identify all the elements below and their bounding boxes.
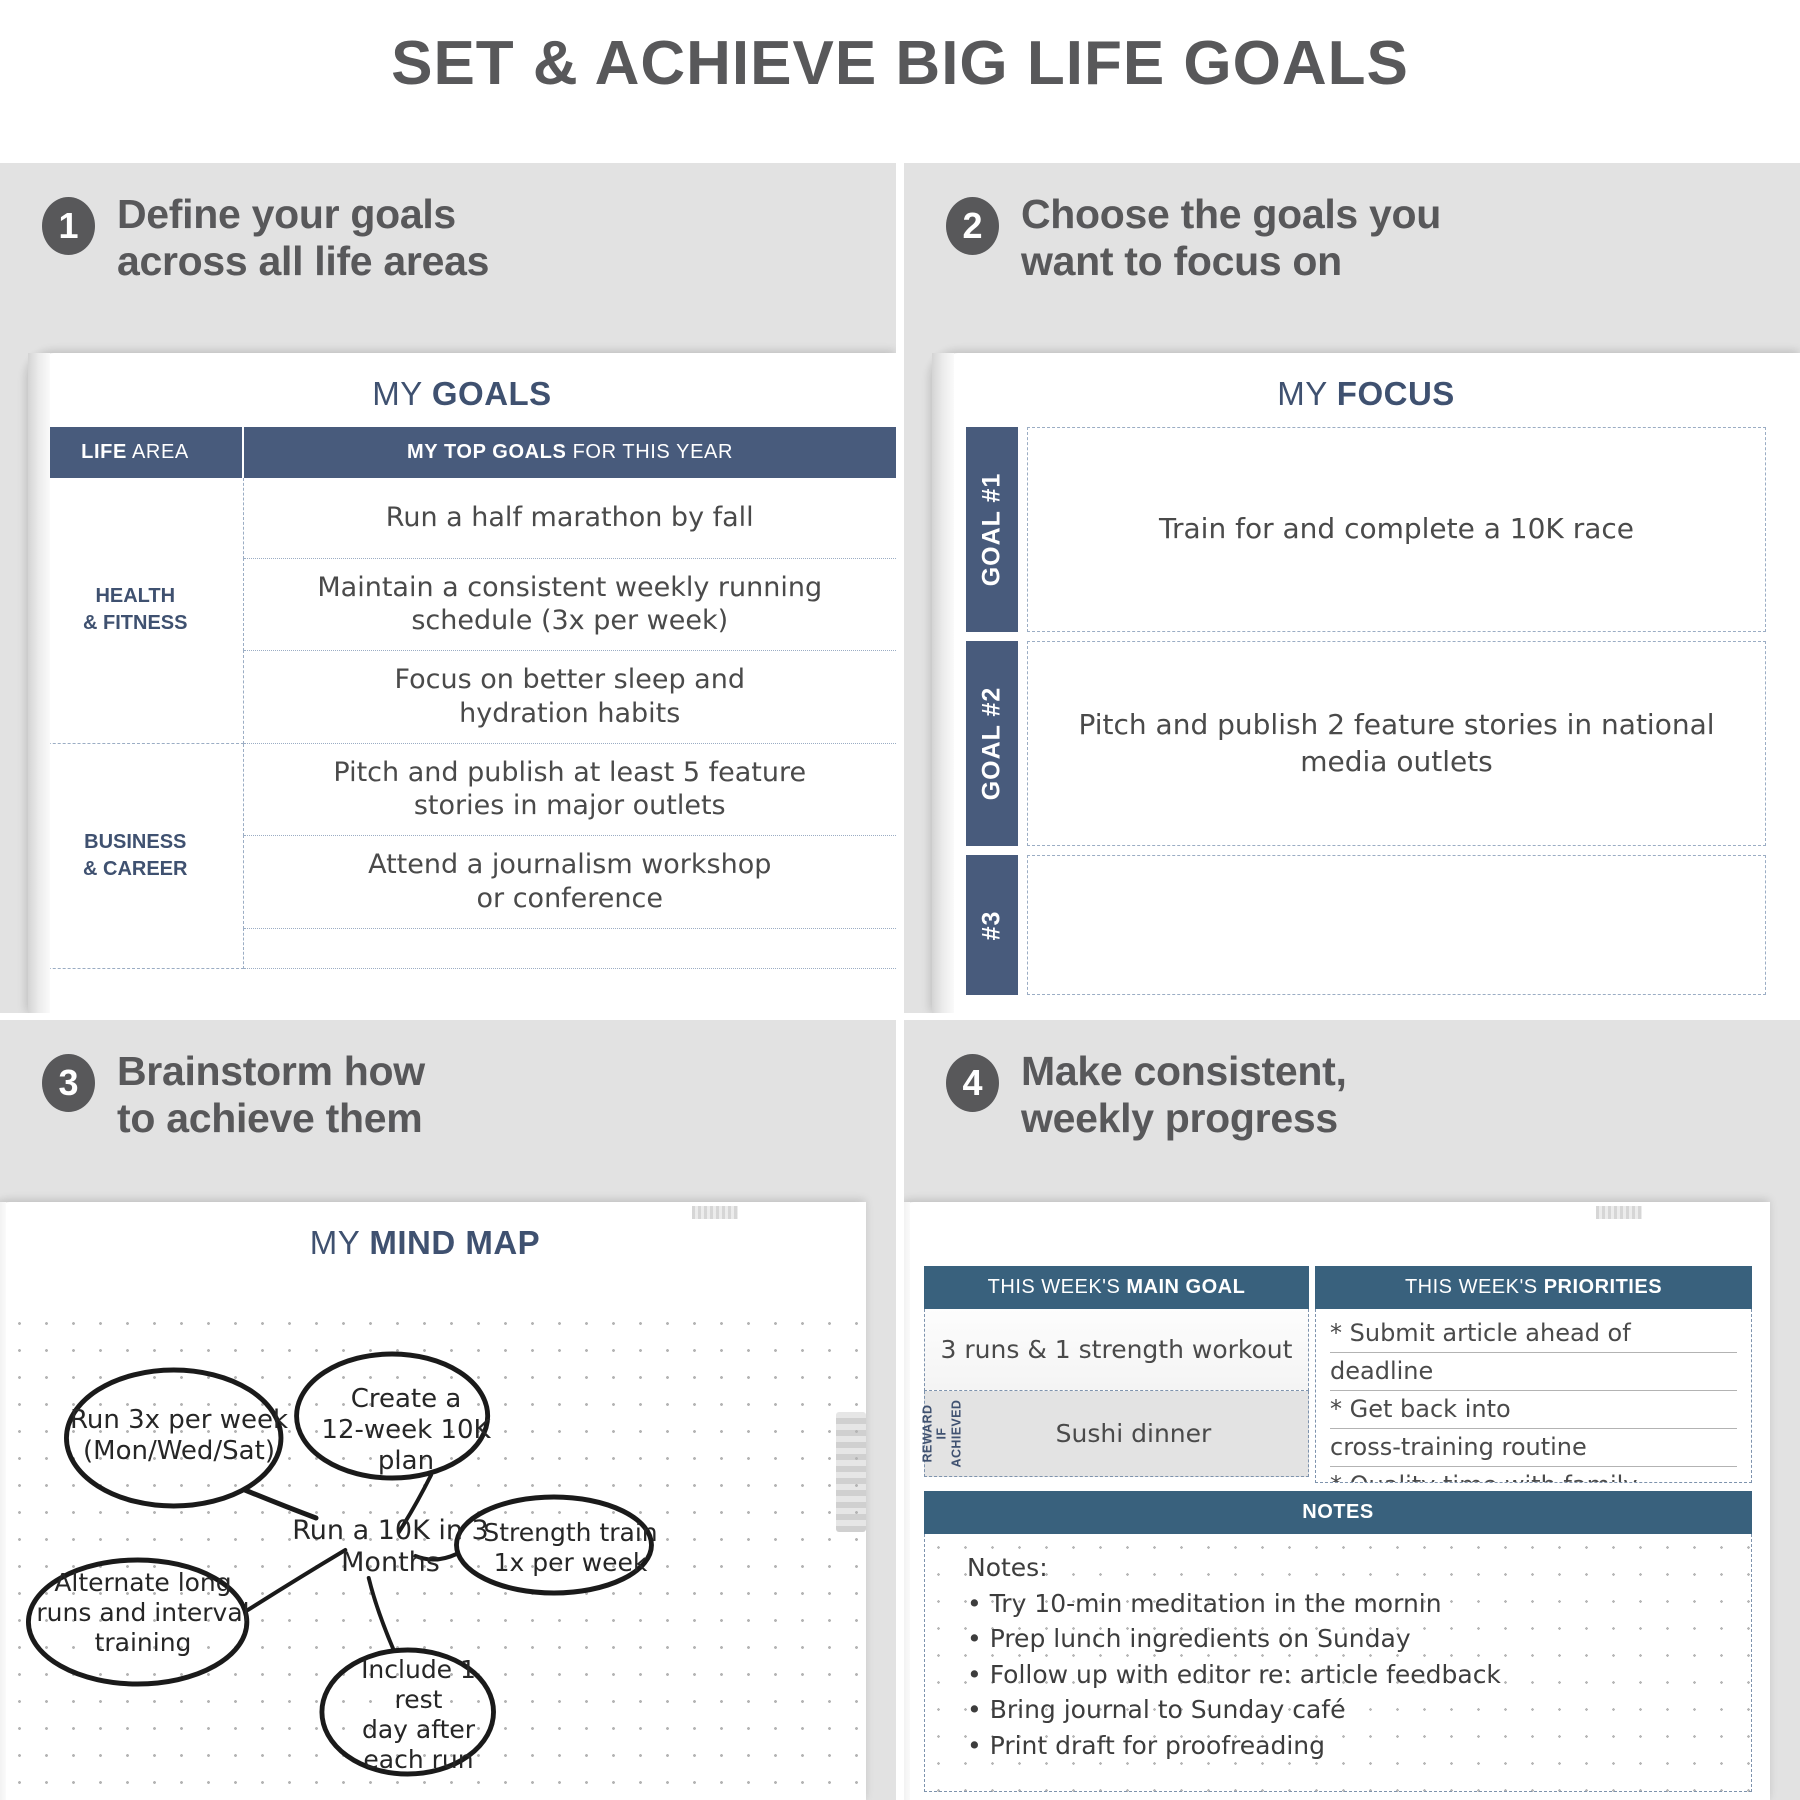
weekly-planner: THIS WEEK'S MAIN GOAL 3 runs & 1 strengt…: [924, 1266, 1752, 1800]
priorities-list: * Submit article ahead of deadline * Get…: [1315, 1309, 1752, 1483]
priority-line[interactable]: * Quality time with family: [1330, 1467, 1737, 1483]
goals-sheet: MY GOALS LIFE AREA MY TOP GOALS FOR THIS…: [28, 353, 896, 1013]
step-2-heading: 2 Choose the goals you want to focus on: [946, 191, 1441, 285]
focus-title-bold: FOCUS: [1337, 375, 1455, 412]
step-4-badge: 4: [946, 1054, 999, 1112]
goals-sheet-title: MY GOALS: [28, 353, 896, 413]
goal-cell[interactable]: Attend a journalism workshop or conferen…: [243, 836, 896, 929]
mindmap-bubble-alternate-runs[interactable]: Alternate long runs and interval trainin…: [30, 1568, 256, 1658]
focus-title-light: MY: [1277, 375, 1337, 412]
step-2-text: Choose the goals you want to focus on: [1021, 191, 1441, 285]
step-4-heading: 4 Make consistent, weekly progress: [946, 1048, 1347, 1142]
focus-tab-2-label: GOAL #2: [978, 687, 1007, 801]
mindmap-title-bold: MIND MAP: [369, 1224, 540, 1261]
step-3-heading: 3 Brainstorm how to achieve them: [42, 1048, 425, 1142]
focus-input-2[interactable]: Pitch and publish 2 feature stories in n…: [1027, 641, 1766, 846]
priority-line[interactable]: * Submit article ahead of: [1330, 1315, 1737, 1353]
main-goal-header-bold: MAIN GOAL: [1126, 1276, 1245, 1298]
focus-goal-3: #3: [966, 855, 1766, 995]
step-1-text: Define your goals across all life areas: [117, 191, 489, 285]
elastic-notch-icon: [1596, 1206, 1642, 1219]
notes-header: NOTES: [924, 1491, 1752, 1534]
priority-line[interactable]: * Get back into: [1330, 1391, 1737, 1429]
note-line: • Follow up with editor re: article feed…: [967, 1657, 1751, 1693]
mindmap-bubble-12-week-plan[interactable]: Create a 12-week 10K plan: [306, 1384, 506, 1478]
step-3-text: Brainstorm how to achieve them: [117, 1048, 425, 1142]
main-goal-column: THIS WEEK'S MAIN GOAL 3 runs & 1 strengt…: [924, 1266, 1309, 1483]
panel-brainstorm: 3 Brainstorm how to achieve them MY MIND…: [0, 1020, 896, 1800]
col-header-goals-bold: MY TOP GOALS: [407, 441, 566, 463]
goal-cell[interactable]: Focus on better sleep and hydration habi…: [243, 651, 896, 744]
mindmap-title-light: MY: [310, 1224, 370, 1261]
focus-input-3[interactable]: [1027, 855, 1766, 995]
panel-weekly-progress: 4 Make consistent, weekly progress THIS …: [904, 1020, 1800, 1800]
table-row: BUSINESS & CAREER Pitch and publish at l…: [28, 743, 896, 836]
note-line: • Print draft for proofreading: [967, 1728, 1751, 1764]
focus-tab-2: GOAL #2: [966, 641, 1018, 846]
reward-row: REWARD IF ACHIEVED Sushi dinner: [924, 1391, 1309, 1477]
mindmap-bubble-strength-train[interactable]: Strength train 1x per week: [478, 1518, 663, 1578]
notes-section: NOTES Notes: • Try 10-min meditation in …: [924, 1491, 1752, 1792]
main-goal-header: THIS WEEK'S MAIN GOAL: [924, 1266, 1309, 1309]
focus-sheet: MY FOCUS GOAL #1 Train for and complete …: [932, 353, 1800, 1013]
notes-header-label: NOTES: [1302, 1501, 1373, 1523]
goals-table-header-row: LIFE AREA MY TOP GOALS FOR THIS YEAR: [28, 427, 896, 478]
col-header-top-goals: MY TOP GOALS FOR THIS YEAR: [243, 427, 896, 478]
goal-cell[interactable]: Pitch and publish at least 5 feature sto…: [243, 743, 896, 836]
priorities-column: THIS WEEK'S PRIORITIES * Submit article …: [1315, 1266, 1752, 1483]
mindmap-bubble-run-3x[interactable]: Run 3x per week (Mon/Wed/Sat): [64, 1405, 294, 1467]
col-header-life-area: LIFE AREA: [28, 427, 243, 478]
step-1-badge: 1: [42, 197, 95, 255]
elastic-notch-icon: [692, 1206, 738, 1219]
step-2-badge: 2: [946, 197, 999, 255]
mindmap-bubble-rest-day[interactable]: Include 1 rest day after each run: [336, 1655, 501, 1775]
goal-cell[interactable]: Maintain a consistent weekly running sch…: [243, 558, 896, 651]
focus-goal-1: GOAL #1 Train for and complete a 10K rac…: [966, 427, 1766, 632]
note-line: • Prep lunch ingredients on Sunday: [967, 1621, 1751, 1657]
goal-cell-empty[interactable]: [243, 928, 896, 968]
book-edge: [932, 353, 954, 1013]
col-header-area-light: AREA: [127, 441, 189, 463]
table-row: HEALTH & FITNESS Run a half marathon by …: [28, 478, 896, 558]
weekly-top-section: THIS WEEK'S MAIN GOAL 3 runs & 1 strengt…: [924, 1266, 1752, 1483]
main-goal-value[interactable]: 3 runs & 1 strength workout: [924, 1309, 1309, 1391]
goal-cell[interactable]: Run a half marathon by fall: [243, 478, 896, 558]
focus-tab-1-label: GOAL #1: [978, 473, 1007, 587]
life-area-health: HEALTH & FITNESS: [28, 478, 243, 743]
priority-line[interactable]: deadline: [1330, 1353, 1737, 1391]
life-area-business: BUSINESS & CAREER: [28, 743, 243, 968]
note-line: Notes:: [967, 1550, 1751, 1586]
focus-goals-list: GOAL #1 Train for and complete a 10K rac…: [932, 427, 1800, 995]
goals-table: LIFE AREA MY TOP GOALS FOR THIS YEAR HEA…: [28, 427, 896, 969]
goals-title-light: MY: [372, 375, 432, 412]
step-3-badge: 3: [42, 1054, 95, 1112]
reward-value[interactable]: Sushi dinner: [959, 1391, 1308, 1476]
panel-define-goals: 1 Define your goals across all life area…: [0, 163, 896, 1013]
page-title: SET & ACHIEVE BIG LIFE GOALS: [0, 28, 1800, 99]
priorities-header-light: THIS WEEK'S: [1405, 1276, 1544, 1298]
weekly-sheet: THIS WEEK'S MAIN GOAL 3 runs & 1 strengt…: [904, 1202, 1770, 1800]
mindmap-sheet: MY MIND MAP: [0, 1202, 866, 1800]
goals-title-bold: GOALS: [432, 375, 552, 412]
book-edge: [28, 353, 50, 1013]
reward-label: REWARD IF ACHIEVED: [925, 1391, 959, 1476]
focus-sheet-title: MY FOCUS: [932, 353, 1800, 413]
priorities-header: THIS WEEK'S PRIORITIES: [1315, 1266, 1752, 1309]
col-header-life-bold: LIFE: [81, 441, 127, 463]
mindmap-center-node[interactable]: Run a 10K in 3 Months: [278, 1515, 503, 1580]
book-edge: [904, 1202, 910, 1800]
priority-line[interactable]: cross-training routine: [1330, 1429, 1737, 1467]
infographic-page: SET & ACHIEVE BIG LIFE GOALS 1 Define yo…: [0, 0, 1800, 1800]
dot-grid: Run 3x per week (Mon/Wed/Sat) Create a 1…: [6, 1310, 866, 1800]
step-1-heading: 1 Define your goals across all life area…: [42, 191, 489, 285]
note-line: • Bring journal to Sunday café: [967, 1692, 1751, 1728]
main-goal-header-light: THIS WEEK'S: [988, 1276, 1127, 1298]
focus-tab-3-label: #3: [978, 910, 1007, 940]
priorities-header-bold: PRIORITIES: [1544, 1276, 1662, 1298]
notes-body[interactable]: Notes: • Try 10-min meditation in the mo…: [924, 1534, 1752, 1792]
focus-tab-1: GOAL #1: [966, 427, 1018, 632]
focus-tab-3: #3: [966, 855, 1018, 995]
panel-choose-focus: 2 Choose the goals you want to focus on …: [904, 163, 1800, 1013]
col-header-goals-light: FOR THIS YEAR: [566, 441, 733, 463]
note-line: • Try 10-min meditation in the mornin: [967, 1586, 1751, 1622]
focus-input-1[interactable]: Train for and complete a 10K race: [1027, 427, 1766, 632]
step-4-text: Make consistent, weekly progress: [1021, 1048, 1347, 1142]
reward-label-text: REWARD IF ACHIEVED: [920, 1400, 963, 1468]
focus-goal-2: GOAL #2 Pitch and publish 2 feature stor…: [966, 641, 1766, 846]
